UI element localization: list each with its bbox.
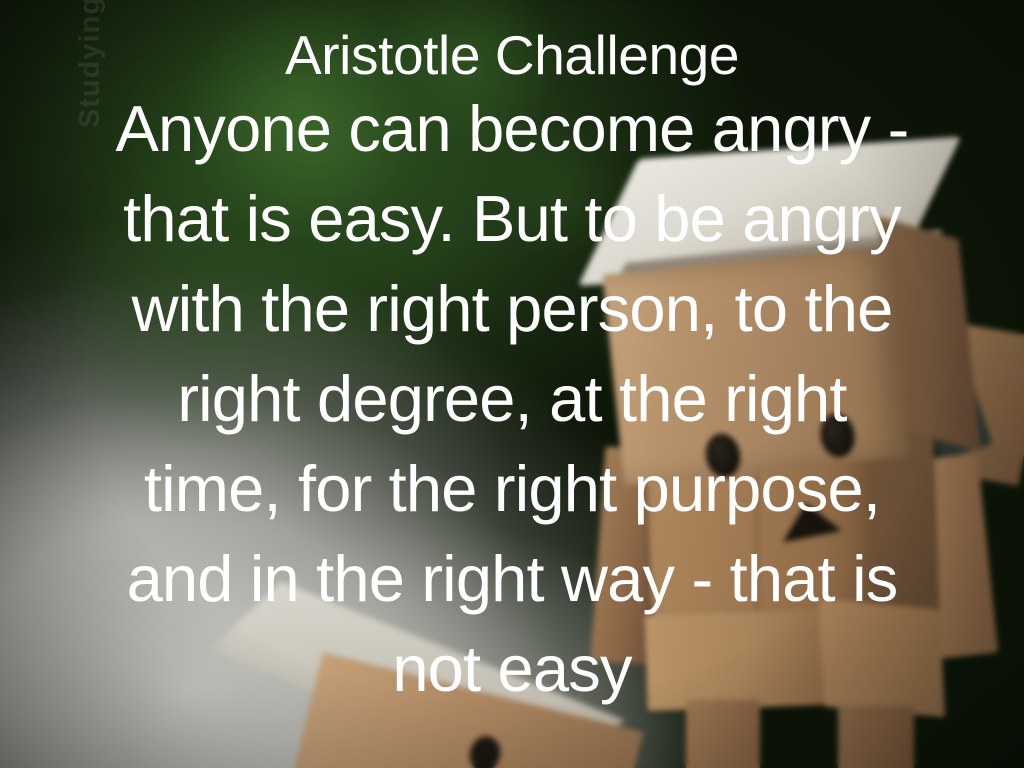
quote-line: not easy xyxy=(7,624,1017,714)
quote-line: that is easy. But to be angry xyxy=(7,174,1017,264)
quote-line: and in the right way - that is xyxy=(7,534,1017,624)
quote-slide: Studying Aristotle Challenge Anyone can … xyxy=(0,0,1024,768)
quote-line: with the right person, to the xyxy=(7,264,1017,354)
quote-line: time, for the right purpose, xyxy=(7,444,1017,534)
quote-line: Anyone can become angry - xyxy=(7,84,1017,174)
quote-line: right degree, at the right xyxy=(7,354,1017,444)
quote-text: Anyone can become angry - that is easy. … xyxy=(7,84,1017,714)
slide-title: Aristotle Challenge xyxy=(285,22,739,88)
text-overlay: Aristotle Challenge Anyone can become an… xyxy=(0,0,1024,768)
